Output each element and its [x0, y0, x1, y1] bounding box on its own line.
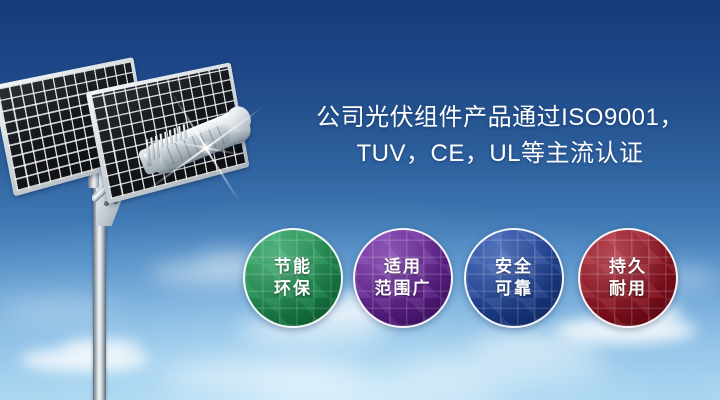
feature-badge-group: 节能 环保 适用 范围广 安全 可靠 持久 耐用 [0, 0, 720, 400]
feature-badge-wide-application[interactable]: 适用 范围广 [353, 228, 453, 328]
badge-label: 安全 可靠 [495, 256, 533, 300]
badge-label: 持久 耐用 [609, 256, 647, 300]
badge-label: 适用 范围广 [375, 256, 432, 300]
badge-label: 节能 环保 [274, 256, 312, 300]
banner-root: 公司光伏组件产品通过ISO9001， TUV，CE，UL等主流认证 节能 环保 … [0, 0, 720, 400]
feature-badge-energy-saving[interactable]: 节能 环保 [243, 228, 343, 328]
feature-badge-safe-reliable[interactable]: 安全 可靠 [464, 228, 564, 328]
feature-badge-durable[interactable]: 持久 耐用 [578, 228, 678, 328]
